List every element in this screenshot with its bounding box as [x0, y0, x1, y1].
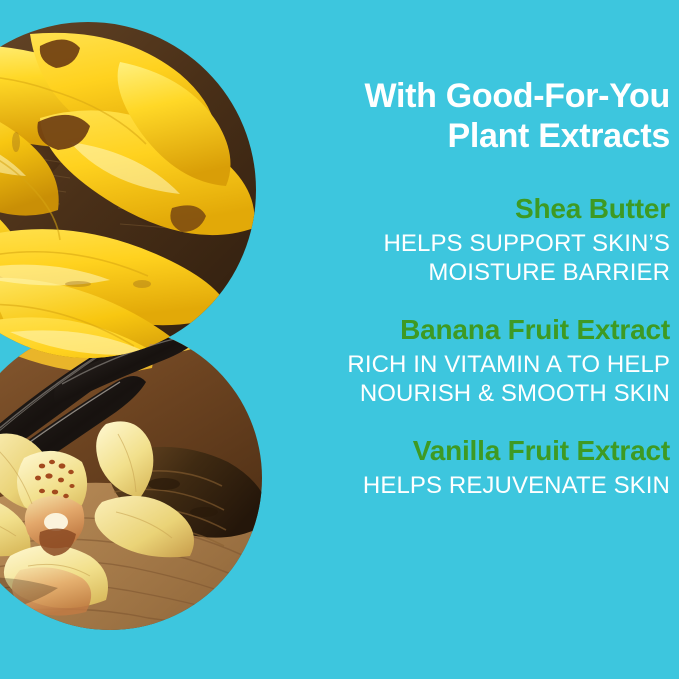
extract-description-line-1: RICH IN VITAMIN A TO HELP: [282, 350, 670, 379]
extract-description: RICH IN VITAMIN A TO HELP NOURISH & SMOO…: [282, 347, 670, 409]
extract-description-line-2: NOURISH & SMOOTH SKIN: [282, 379, 670, 408]
extract-description-line-2: MOISTURE BARRIER: [282, 258, 670, 287]
headline-line-2: Plant Extracts: [282, 116, 670, 156]
extract-name: Shea Butter: [282, 192, 670, 226]
vanilla-orchid-photo: [0, 326, 262, 630]
text-column: With Good-For-You Plant Extracts Shea Bu…: [278, 0, 679, 679]
extract-item-vanilla-fruit-extract: Vanilla Fruit Extract HELPS REJUVENATE S…: [282, 408, 670, 500]
banana-bunch-photo: [0, 22, 256, 358]
image-column: [0, 0, 280, 679]
vanilla-photo-illustration: [0, 326, 262, 630]
extract-description: HELPS REJUVENATE SKIN: [282, 468, 670, 500]
extract-item-banana-fruit-extract: Banana Fruit Extract RICH IN VITAMIN A T…: [282, 287, 670, 408]
extract-name: Banana Fruit Extract: [282, 313, 670, 347]
extract-description-line-1: HELPS REJUVENATE SKIN: [282, 471, 670, 500]
extract-description-line-1: HELPS SUPPORT SKIN’S: [282, 229, 670, 258]
page-title: With Good-For-You Plant Extracts: [282, 0, 670, 156]
plant-extracts-infographic: With Good-For-You Plant Extracts Shea Bu…: [0, 0, 679, 679]
banana-photo-illustration: [0, 22, 256, 358]
extract-item-shea-butter: Shea Butter HELPS SUPPORT SKIN’S MOISTUR…: [282, 156, 670, 287]
headline-line-1: With Good-For-You: [282, 76, 670, 116]
extract-name: Vanilla Fruit Extract: [282, 434, 670, 468]
extract-description: HELPS SUPPORT SKIN’S MOISTURE BARRIER: [282, 226, 670, 288]
